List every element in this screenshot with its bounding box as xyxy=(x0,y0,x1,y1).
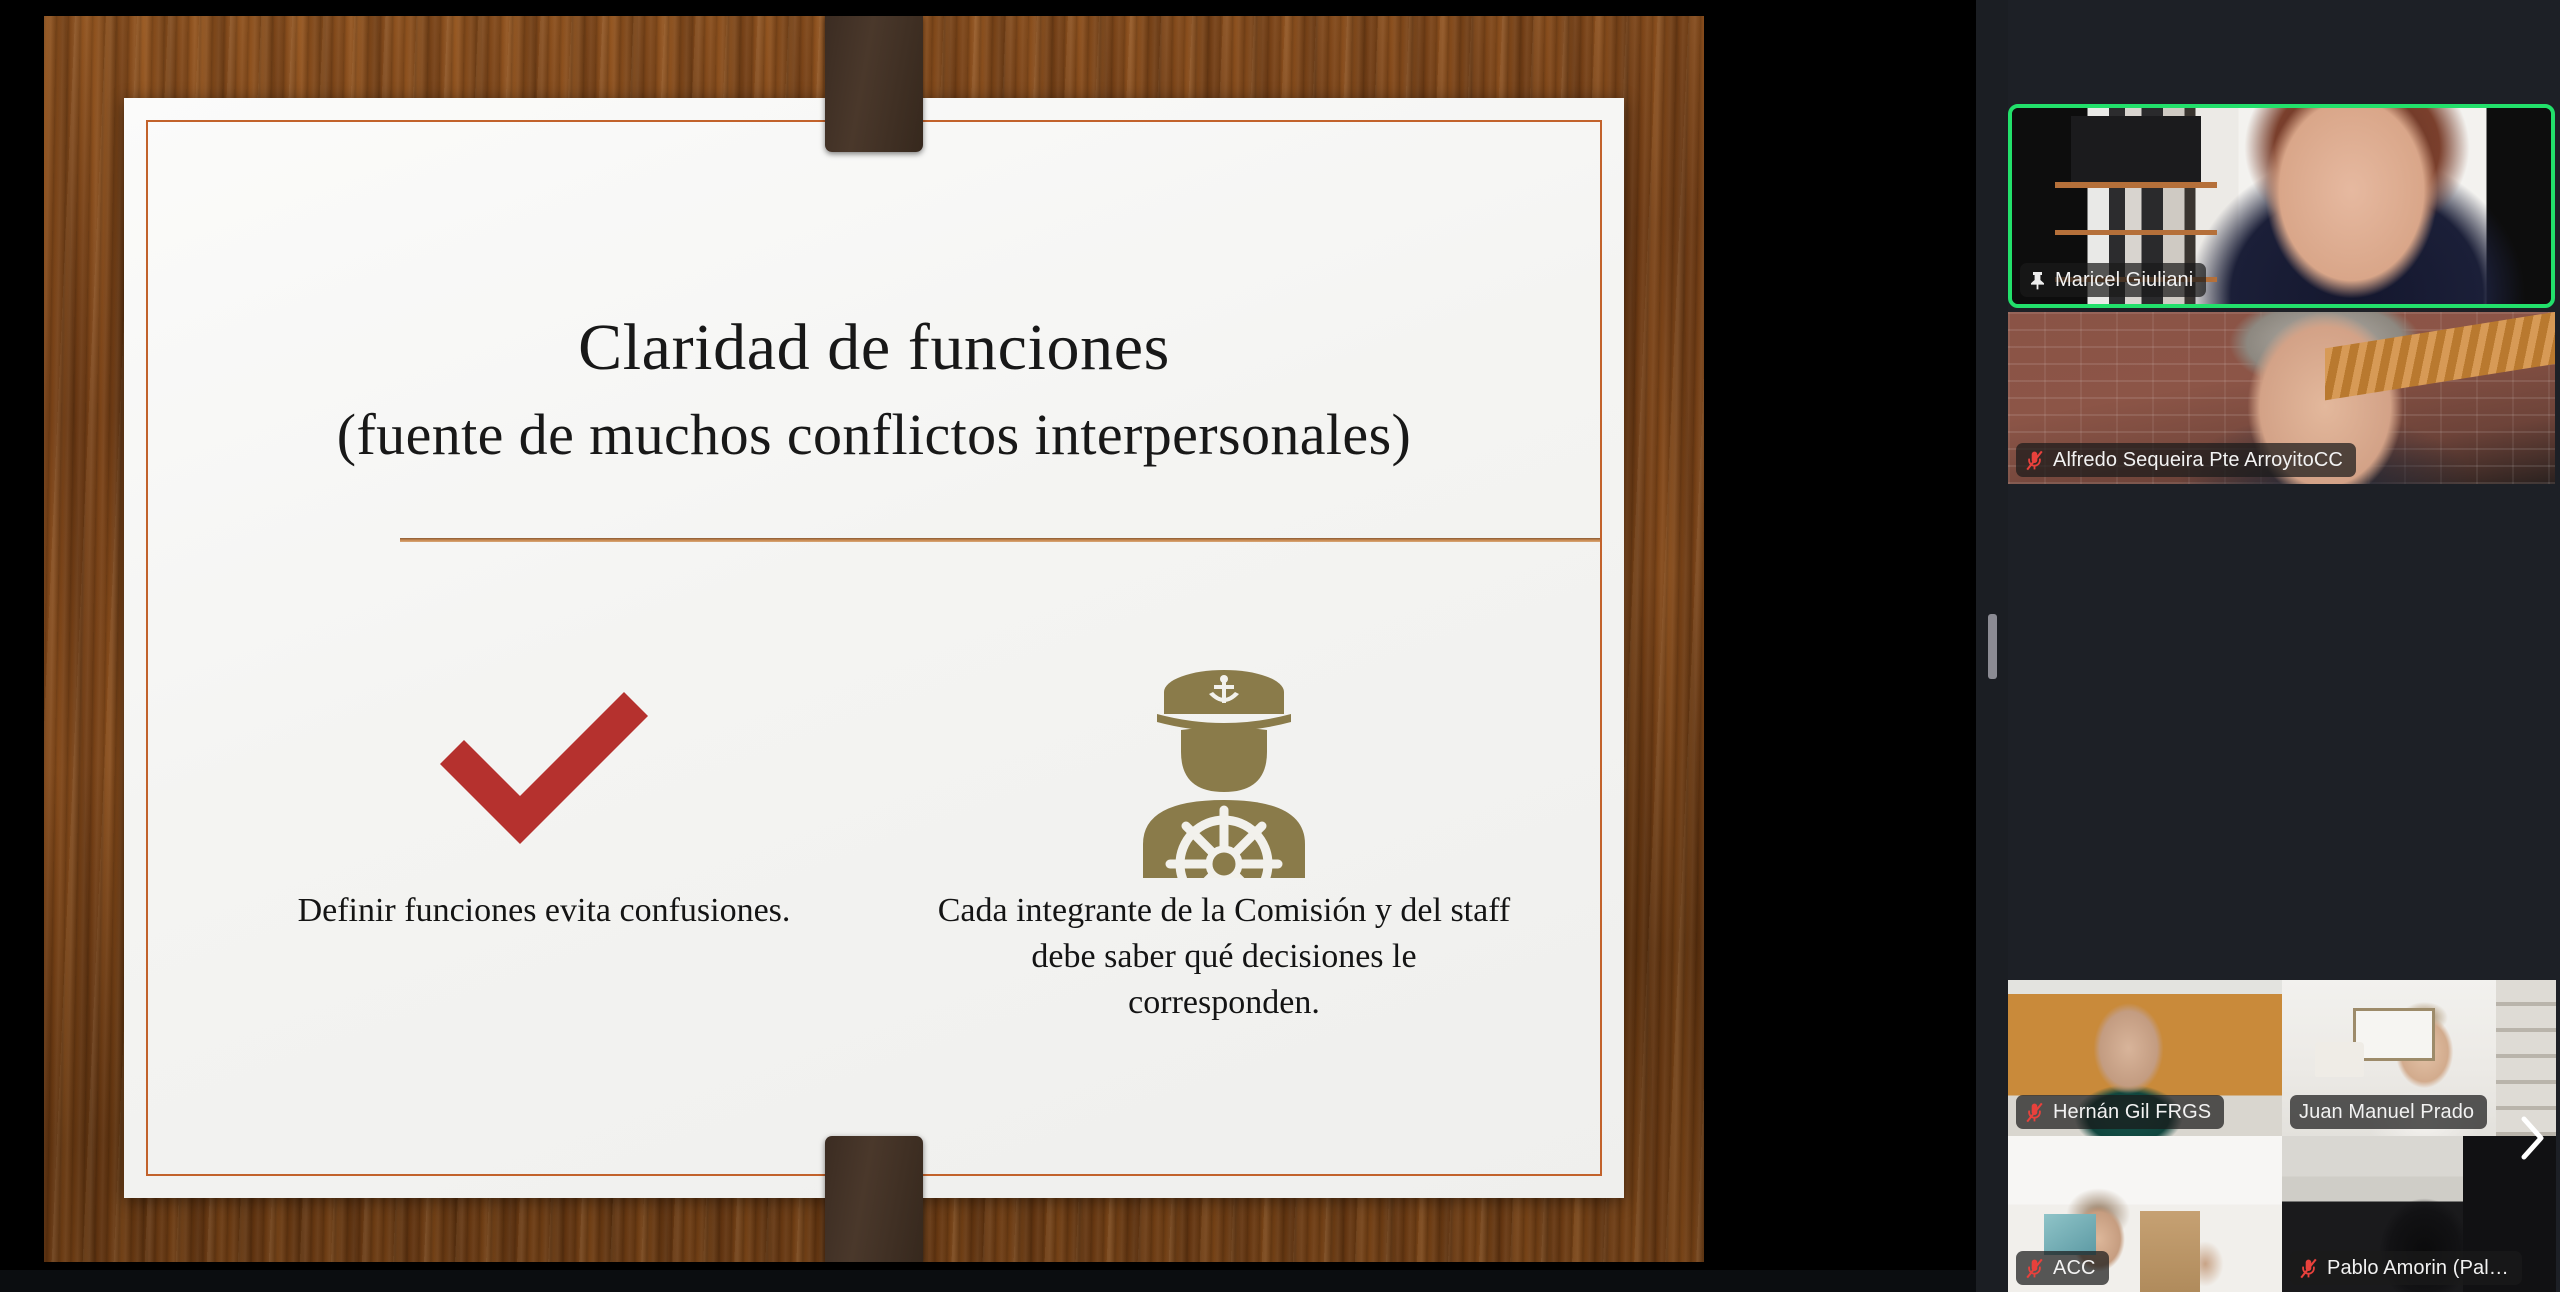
door-shape xyxy=(2140,1211,2200,1292)
video-tile-alfredo-sequeira[interactable]: Alfredo Sequeira Pte ArroyitoCC xyxy=(2008,312,2555,484)
chevron-right-icon xyxy=(2519,1116,2545,1160)
check-mark-icon xyxy=(434,686,654,861)
slide-title: Claridad de funciones xyxy=(124,312,1624,383)
slide-content: Claridad de funciones (fuente de muchos … xyxy=(124,98,1624,1198)
shelf-shape xyxy=(2055,182,2217,188)
presentation-slide: Claridad de funciones (fuente de muchos … xyxy=(44,16,1704,1262)
slide-paper: Claridad de funciones (fuente de muchos … xyxy=(124,98,1624,1198)
participant-name: ACC xyxy=(2053,1257,2096,1280)
ship-captain-icon-box xyxy=(924,658,1524,888)
slide-column-right: Cada integrante de la Comisión y del sta… xyxy=(924,658,1524,1026)
monitor-shape xyxy=(2071,116,2200,183)
ship-captain-icon xyxy=(1129,668,1319,878)
slide-caption-right: Cada integrante de la Comisión y del sta… xyxy=(924,888,1524,1026)
slide-clip-bottom xyxy=(825,1136,923,1262)
participant-name-badge: Alfredo Sequeira Pte ArroyitoCC xyxy=(2016,443,2356,477)
participant-name: Alfredo Sequeira Pte ArroyitoCC xyxy=(2053,449,2343,472)
mic-muted-icon xyxy=(2025,1258,2044,1279)
participant-name-badge: Juan Manuel Prado xyxy=(2290,1095,2487,1129)
pin-icon xyxy=(2029,271,2046,290)
shared-screen-stage[interactable]: Claridad de funciones (fuente de muchos … xyxy=(0,0,1976,1270)
participant-name-badge: Maricel Giuliani xyxy=(2020,263,2206,297)
participant-name: Pablo Amorin (Pal… xyxy=(2327,1257,2509,1280)
participant-name: Juan Manuel Prado xyxy=(2299,1101,2474,1124)
zoom-meeting-window: Claridad de funciones (fuente de muchos … xyxy=(0,0,2560,1292)
slide-clip-top xyxy=(825,16,923,152)
picture-frame-shape xyxy=(2353,1008,2435,1061)
resize-grip-handle[interactable] xyxy=(1988,614,1997,679)
participant-name: Maricel Giuliani xyxy=(2055,269,2193,292)
shelf-shape xyxy=(2055,230,2217,236)
slide-caption-left: Definir funciones evita confusiones. xyxy=(274,888,814,934)
participant-name-badge: Hernán Gil FRGS xyxy=(2016,1095,2224,1129)
participant-name-badge: ACC xyxy=(2016,1251,2109,1285)
ceiling-beams-shape xyxy=(2325,312,2555,400)
mic-muted-icon xyxy=(2299,1258,2318,1279)
slide-subtitle: (fuente de muchos conflictos interperson… xyxy=(124,403,1624,467)
check-mark-icon-box xyxy=(274,658,814,888)
video-tile-maricel-giuliani[interactable]: Maricel Giuliani xyxy=(2008,104,2555,308)
slide-title-rule xyxy=(400,538,1600,542)
participant-name: Hernán Gil FRGS xyxy=(2053,1101,2211,1124)
panel-resize-divider[interactable] xyxy=(1976,0,2008,1292)
video-tile-acc[interactable]: ACC xyxy=(2008,1136,2282,1292)
mic-muted-icon xyxy=(2025,450,2044,471)
filmstrip-next-page-button[interactable] xyxy=(2510,1110,2554,1166)
participant-name-badge: Pablo Amorin (Pal… xyxy=(2290,1251,2522,1285)
video-filmstrip[interactable]: Maricel Giuliani Alfredo Sequeira Pte Ar… xyxy=(2008,0,2560,1292)
shared-screen-region[interactable]: Claridad de funciones (fuente de muchos … xyxy=(0,0,1976,1292)
wall-art-shape xyxy=(2044,1214,2096,1255)
lamp-shape xyxy=(2315,1042,2364,1076)
video-tile-hernan-gil[interactable]: Hernán Gil FRGS xyxy=(2008,980,2282,1136)
slide-column-left: Definir funciones evita confusiones. xyxy=(274,658,814,934)
mic-muted-icon xyxy=(2025,1102,2044,1123)
